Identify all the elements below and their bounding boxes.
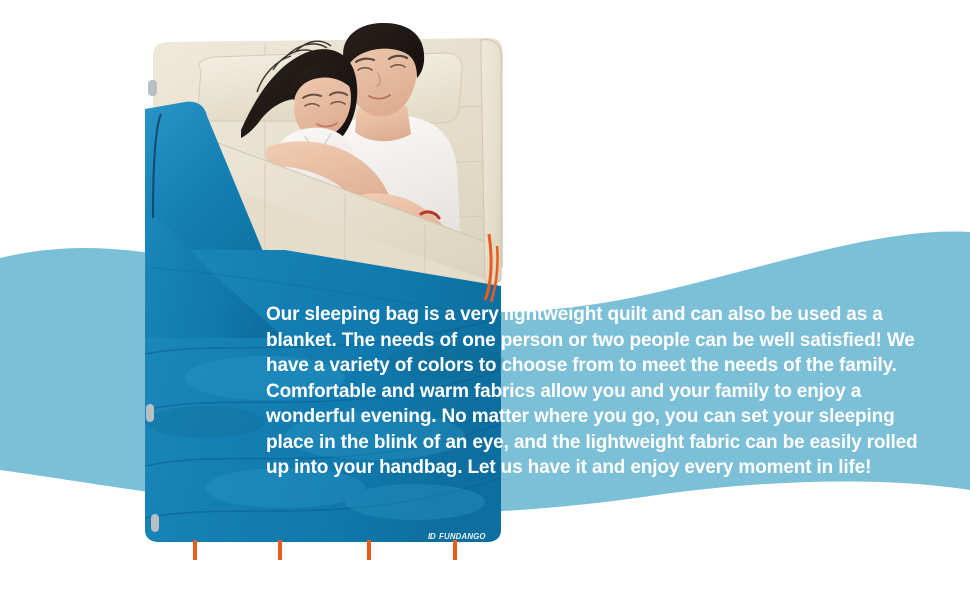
banner-stage: ID FUNDANGO Our sleeping bag is a very l… (0, 0, 970, 600)
zipper-pull-bottom (151, 514, 159, 532)
brand-logo: ID FUNDANGO (428, 531, 488, 541)
pull-tab-4 (453, 540, 457, 560)
bottom-pull-tabs (193, 540, 457, 560)
zipper-pull-mid (146, 404, 154, 422)
brand-logo-mark: ID (428, 532, 435, 541)
product-description: Our sleeping bag is a very lightweight q… (266, 302, 926, 481)
zipper-pull-top (148, 80, 157, 96)
pull-tab-1 (193, 540, 197, 560)
pull-tab-2 (278, 540, 282, 560)
pull-tab-3 (367, 540, 371, 560)
brand-logo-word: FUNDANGO (439, 531, 486, 541)
